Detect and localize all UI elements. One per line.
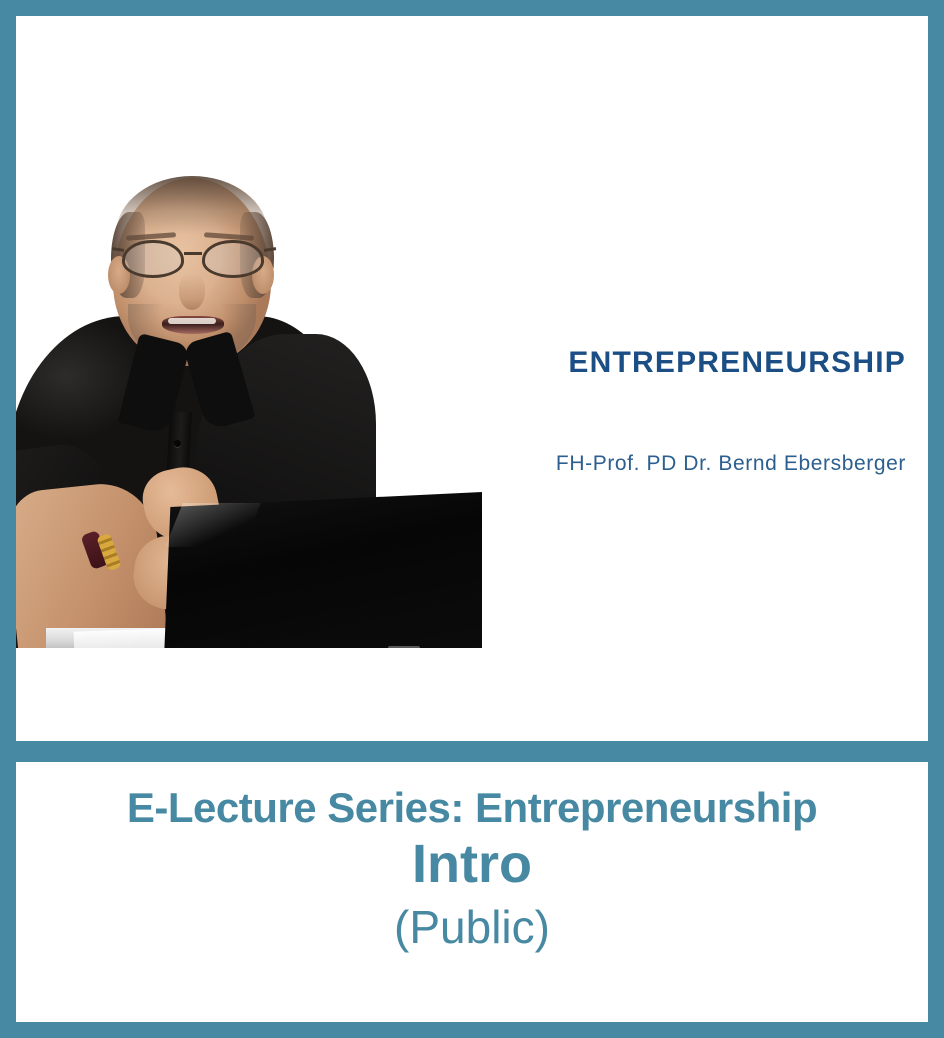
presenter-teeth: [168, 318, 216, 324]
desk-papers: [74, 628, 171, 648]
slide-text-block: ENTREPRENEURSHIP FH-Prof. PD Dr. Bernd E…: [506, 346, 906, 476]
video-still-image[interactable]: ENTREPRENEURSHIP FH-Prof. PD Dr. Bernd E…: [16, 16, 928, 648]
eyeglass-lens-right: [202, 240, 264, 278]
laptop-hinge-foot: [388, 646, 420, 648]
eyeglass-lens-left: [122, 240, 184, 278]
caption-panel: E-Lecture Series: Entrepreneurship Intro…: [16, 762, 928, 1022]
eyeglass-bridge: [184, 252, 202, 255]
eyeglass-temple-right: [264, 247, 276, 252]
slide-title: ENTREPRENEURSHIP: [506, 346, 906, 380]
caption-topic-title: Intro: [16, 830, 928, 893]
eyeglass-temple-left: [112, 247, 124, 252]
slide-presenter-name: FH-Prof. PD Dr. Bernd Ebersberger: [506, 452, 906, 476]
video-panel[interactable]: ENTREPRENEURSHIP FH-Prof. PD Dr. Bernd E…: [16, 16, 928, 741]
caption-series-title: E-Lecture Series: Entrepreneurship: [16, 762, 928, 830]
panel-divider: [0, 741, 944, 762]
shirt-button: [174, 440, 181, 447]
caption-visibility-label: (Public): [16, 893, 928, 951]
lecture-card-frame: ENTREPRENEURSHIP FH-Prof. PD Dr. Bernd E…: [0, 0, 944, 1038]
